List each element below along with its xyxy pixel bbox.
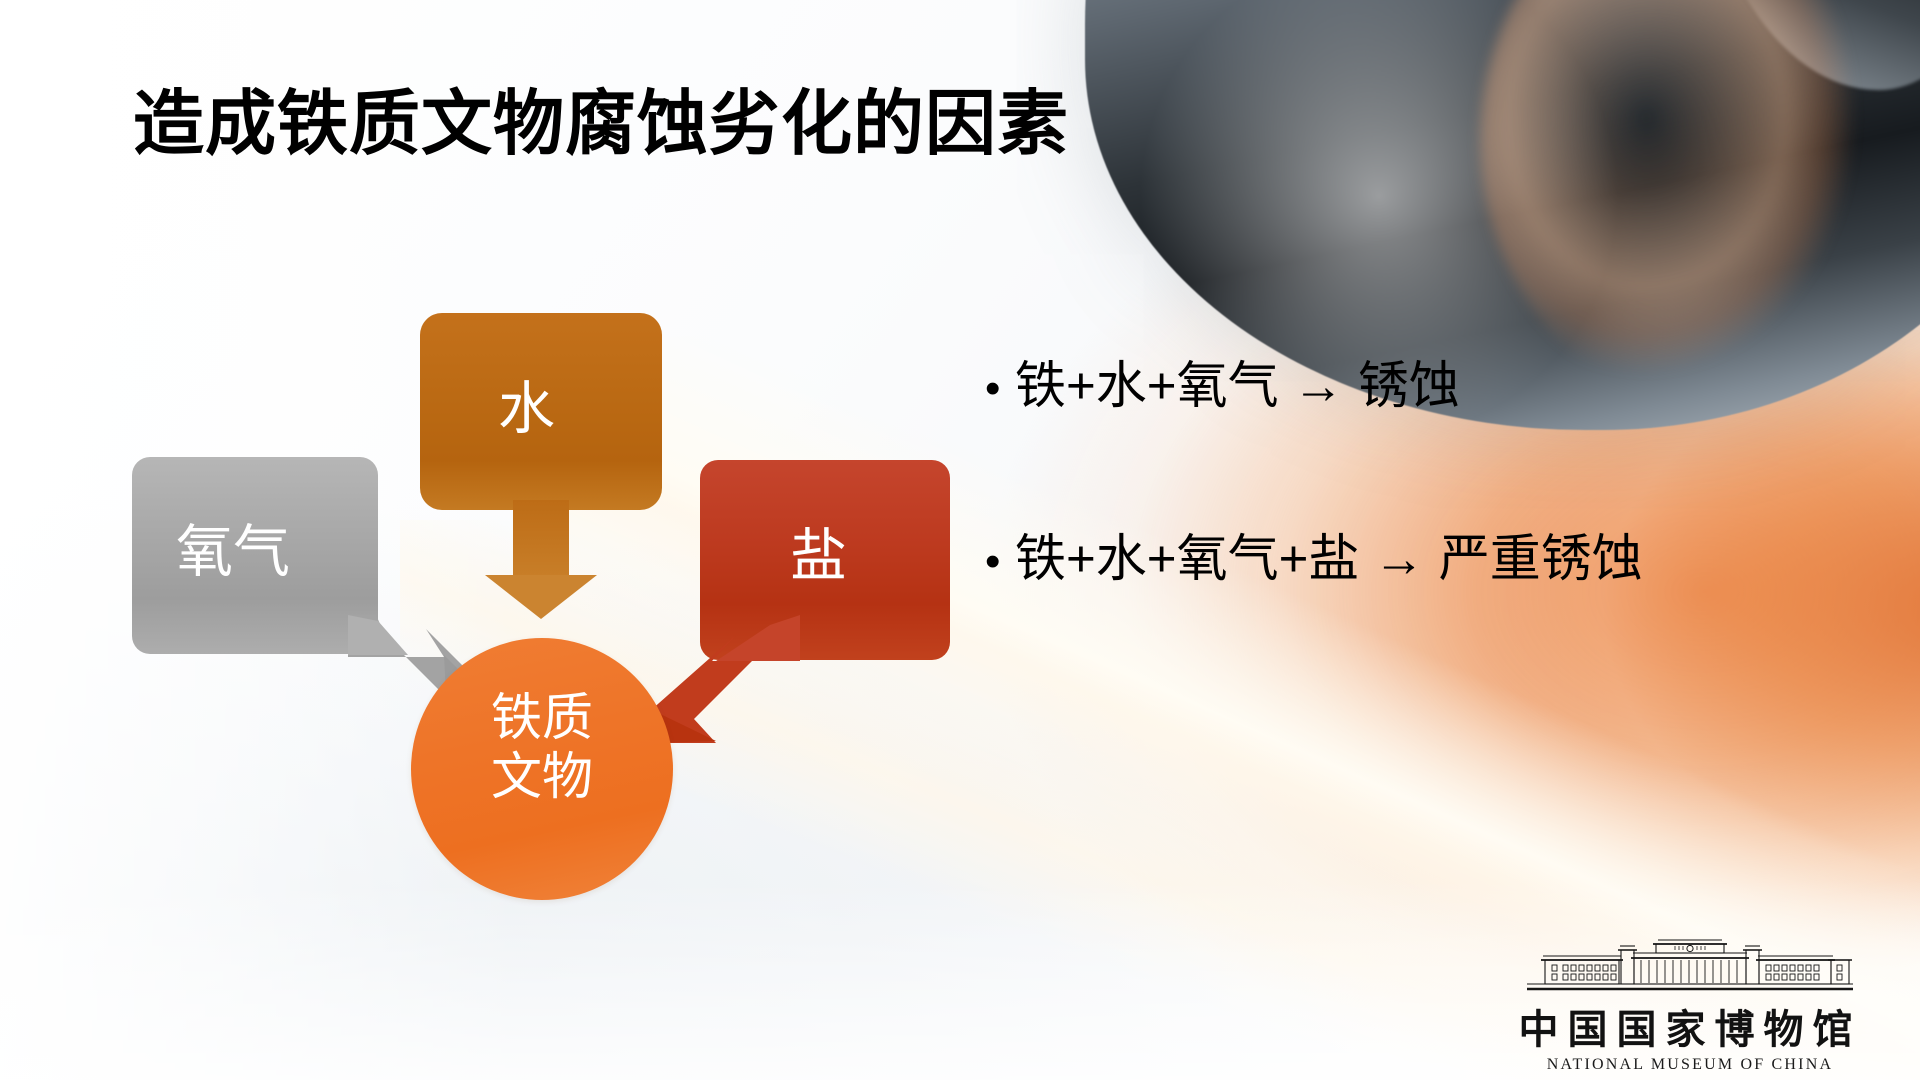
diagram-node-water[interactable] [420, 313, 662, 510]
slide-canvas: 造成铁质文物腐蚀劣化的因素 水 氧气 盐 铁质 文物 [0, 0, 1920, 1080]
museum-name-cn: 中国国家博物馆 [1510, 997, 1870, 1055]
list-item: • 铁+水+氧气 → 锈蚀 [985, 360, 1785, 411]
arrow-water-stem [513, 500, 569, 585]
factors-diagram: 水 氧气 盐 铁质 文物 [0, 0, 980, 1080]
bullet-dot-icon: • [985, 367, 1015, 411]
arrow-water-head-icon [485, 575, 597, 619]
museum-building-icon [1525, 938, 1855, 994]
diagram-node-iron-artifact[interactable] [411, 638, 673, 900]
list-item: • 铁+水+氧气+盐 → 严重锈蚀 [985, 533, 1785, 584]
museum-name-en: NATIONAL MUSEUM OF CHINA [1510, 1056, 1870, 1074]
reaction-text: 铁+水+氧气 → 锈蚀 [1015, 360, 1460, 411]
reaction-text: 铁+水+氧气+盐 → 严重锈蚀 [1015, 533, 1643, 584]
diagram-node-oxygen[interactable] [132, 457, 378, 654]
museum-logo: 中国国家博物馆 NATIONAL MUSEUM OF CHINA [1510, 938, 1870, 1074]
reaction-list: • 铁+水+氧气 → 锈蚀 • 铁+水+氧气+盐 → 严重锈蚀 [985, 360, 1785, 584]
bullet-dot-icon: • [985, 540, 1015, 584]
